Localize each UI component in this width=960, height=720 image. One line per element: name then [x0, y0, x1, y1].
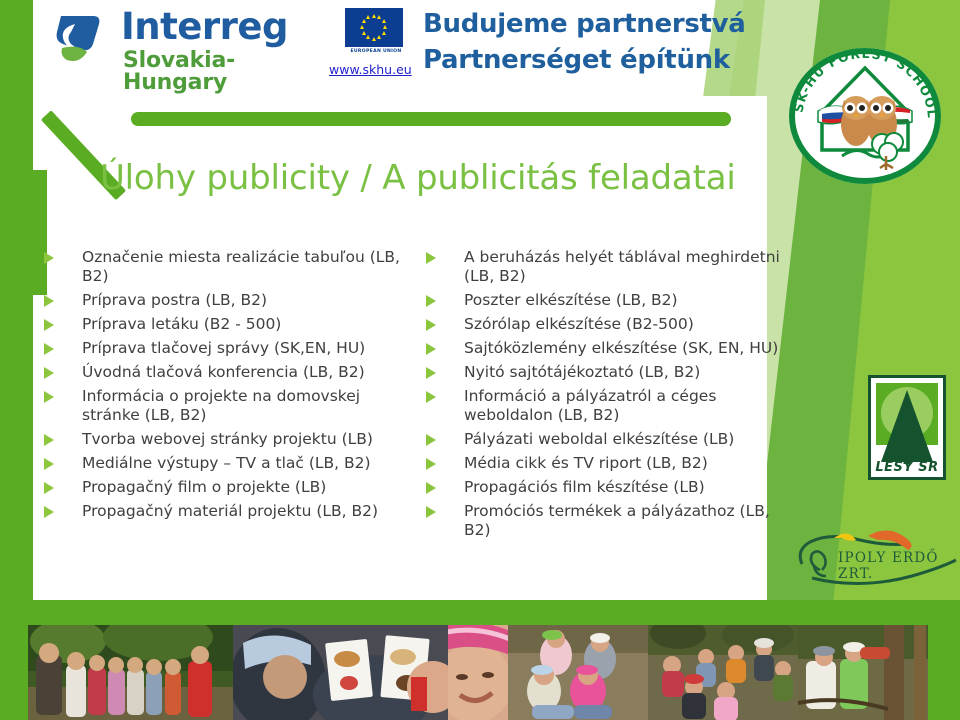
bullet-column-hungarian: A beruházás helyét táblával meghirdetni …	[418, 248, 793, 545]
bullet-triangle-icon	[44, 391, 54, 403]
eu-star-icon	[382, 31, 386, 35]
bullet-triangle-icon	[426, 506, 436, 518]
ipoly-erdo-logo: IPOLY ERDŐ ZRT.	[790, 520, 960, 590]
presentation-slide: Interreg Slovakia-Hungary EUROPEAN UNION…	[0, 0, 960, 720]
lesy-sr-wordmark: LESY SR	[871, 460, 943, 475]
photo-group-forest-workshop	[648, 625, 798, 720]
bullet-triangle-icon	[44, 319, 54, 331]
list-item-label: Poszter elkészítése (LB, B2)	[464, 291, 678, 309]
list-item-label: Pályázati weboldal elkészítése (LB)	[464, 430, 734, 448]
list-item-label: Propagačný film o projekte (LB)	[82, 478, 326, 496]
bullet-triangle-icon	[44, 482, 54, 494]
list-item: Propagačný materiál projektu (LB, B2)	[36, 502, 422, 521]
list-item-label: Propagációs film készítése (LB)	[464, 478, 705, 496]
photo-strip	[0, 625, 960, 720]
ipoly-erdo-wordmark: IPOLY ERDŐ ZRT.	[838, 550, 960, 582]
photo-smiling-girl-pink-hat	[448, 625, 508, 720]
list-item: Tvorba webovej stránky projektu (LB)	[36, 430, 422, 449]
list-item: Propagačný film o projekte (LB)	[36, 478, 422, 497]
eu-star-icon	[372, 14, 376, 18]
list-item: Információ a pályázatról a céges webolda…	[418, 387, 793, 425]
list-item-label: Propagačný materiál projektu (LB, B2)	[82, 502, 378, 520]
list-item: Promóciós termékek a pályázathoz (LB, B2…	[418, 502, 793, 540]
bullet-triangle-icon	[426, 252, 436, 264]
list-item-label: Tvorba webovej stránky projektu (LB)	[82, 430, 373, 448]
photo-children-building-shelter	[798, 625, 928, 720]
list-item: A beruházás helyét táblával meghirdetni …	[418, 248, 793, 286]
eu-star-icon	[383, 25, 387, 29]
list-item-label: Informácia o projekte na domovskej strán…	[82, 387, 360, 424]
list-item: Označenie miesta realizácie tabuľou (LB,…	[36, 248, 422, 286]
list-item-label: Príprava tlačovej správy (SK,EN, HU)	[82, 339, 365, 357]
bullet-list-hungarian: A beruházás helyét táblával meghirdetni …	[418, 248, 793, 540]
list-item-label: Média cikk és TV riport (LB, B2)	[464, 454, 708, 472]
bullet-triangle-icon	[44, 367, 54, 379]
sk-hu-forest-schools-badge: SK-HU FOREST SCHOOLS	[782, 38, 948, 188]
list-item: Sajtóközlemény elkészítése (SK, EN, HU)	[418, 339, 793, 358]
list-item-label: Príprava letáku (B2 - 500)	[82, 315, 281, 333]
list-item: Príprava postra (LB, B2)	[36, 291, 422, 310]
list-item: Média cikk és TV riport (LB, B2)	[418, 454, 793, 473]
header-slogan: Budujeme partnerstvá Partnerséget építün…	[423, 6, 746, 78]
eu-star-icon	[372, 37, 376, 41]
bullet-triangle-icon	[44, 506, 54, 518]
eu-flag-label: EUROPEAN UNION	[345, 49, 407, 54]
list-item: Propagációs film készítése (LB)	[418, 478, 793, 497]
list-item: Pályázati weboldal elkészítése (LB)	[418, 430, 793, 449]
bullet-triangle-icon	[426, 343, 436, 355]
list-item-label: Úvodná tlačová konferencia (LB, B2)	[82, 363, 365, 381]
list-item-label: Sajtóközlemény elkészítése (SK, EN, HU)	[464, 339, 778, 357]
list-item: Príprava letáku (B2 - 500)	[36, 315, 422, 334]
bullet-triangle-icon	[44, 434, 54, 446]
list-item: Nyitó sajtótájékoztató (LB, B2)	[418, 363, 793, 382]
eu-star-icon	[366, 15, 370, 19]
list-item-label: Mediálne výstupy – TV a tlač (LB, B2)	[82, 454, 371, 472]
header-slogan-sk: Budujeme partnerstvá	[423, 6, 746, 42]
bullet-column-slovak: Označenie miesta realizácie tabuľou (LB,…	[36, 248, 422, 526]
list-item: Mediálne výstupy – TV a tlač (LB, B2)	[36, 454, 422, 473]
eu-star-icon	[366, 35, 370, 39]
eu-star-icon	[362, 31, 366, 35]
eu-star-icon	[360, 25, 364, 29]
bullet-triangle-icon	[426, 434, 436, 446]
interreg-wordmark: Interreg	[121, 8, 288, 45]
interreg-subtitle: Slovakia-Hungary	[123, 50, 323, 94]
eu-star-icon	[382, 19, 386, 23]
header-slogan-hu: Partnerséget építünk	[423, 42, 746, 78]
lesy-sr-logo: LESY SR	[868, 375, 946, 480]
bullet-triangle-icon	[44, 295, 54, 307]
bullet-triangle-icon	[426, 458, 436, 470]
bullet-list-slovak: Označenie miesta realizácie tabuľou (LB,…	[36, 248, 422, 521]
bullet-triangle-icon	[44, 343, 54, 355]
list-item-label: Promóciós termékek a pályázathoz (LB, B2…	[464, 502, 770, 539]
bullet-triangle-icon	[426, 391, 436, 403]
bullet-triangle-icon	[426, 295, 436, 307]
list-item-label: Príprava postra (LB, B2)	[82, 291, 267, 309]
list-item-label: Szórólap elkészítése (B2-500)	[464, 315, 694, 333]
interreg-logo: Interreg Slovakia-Hungary	[53, 6, 323, 86]
frame-top-bar	[131, 112, 731, 126]
bullet-triangle-icon	[426, 367, 436, 379]
list-item: Informácia o projekte na domovskej strán…	[36, 387, 422, 425]
bullet-triangle-icon	[426, 482, 436, 494]
photo-children-sitting-circle	[508, 625, 648, 720]
list-item-label: Információ a pályázatról a céges webolda…	[464, 387, 716, 424]
list-item: Úvodná tlačová konferencia (LB, B2)	[36, 363, 422, 382]
list-item: Poszter elkészítése (LB, B2)	[418, 291, 793, 310]
bullet-triangle-icon	[44, 458, 54, 470]
eu-star-icon	[377, 35, 381, 39]
list-item-label: A beruházás helyét táblával meghirdetni …	[464, 248, 780, 285]
list-item: Szórólap elkészítése (B2-500)	[418, 315, 793, 334]
page-title: Úlohy publicity / A publicitás feladatai	[100, 158, 736, 198]
photo-children-mushroom-cards	[233, 625, 448, 720]
list-item: Príprava tlačovej správy (SK,EN, HU)	[36, 339, 422, 358]
photo-blindfolded-forest-walk	[28, 625, 233, 720]
bullet-triangle-icon	[426, 319, 436, 331]
bullet-triangle-icon	[44, 252, 54, 264]
eu-flag-icon: EUROPEAN UNION	[345, 8, 407, 50]
interreg-swoosh-mark	[53, 10, 115, 72]
list-item-label: Nyitó sajtótájékoztató (LB, B2)	[464, 363, 700, 381]
bottom-green-bar	[0, 600, 960, 625]
skhu-website-link[interactable]: www.skhu.eu	[329, 62, 412, 77]
list-item-label: Označenie miesta realizácie tabuľou (LB,…	[82, 248, 400, 285]
slide-header: Interreg Slovakia-Hungary EUROPEAN UNION…	[33, 0, 773, 96]
eu-star-icon	[362, 19, 366, 23]
